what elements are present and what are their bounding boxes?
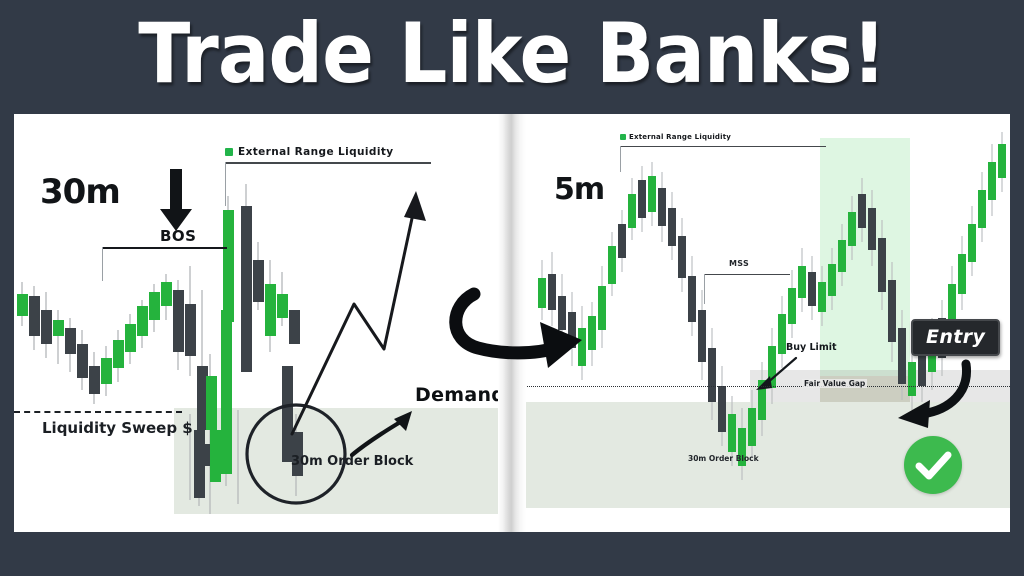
diagonal-down-left-arrow-icon xyxy=(748,354,808,398)
external-range-liquidity-label-5m: External Range Liquidity xyxy=(620,133,731,141)
buy-limit-label-5m: Buy Limit xyxy=(786,342,837,353)
mss-line-5m xyxy=(704,274,790,275)
curved-right-arrow-icon xyxy=(444,282,604,392)
erl-anchor-tick-30m xyxy=(225,162,226,206)
mss-label-5m: MSS xyxy=(729,259,749,268)
status-badge-success xyxy=(904,436,962,494)
liquidity-checkbox-icon xyxy=(225,148,233,156)
screenshot-root: Trade Like Banks! xyxy=(0,0,1024,576)
panel-30m[interactable]: 30m External Range Liquidity BOS Liquidi… xyxy=(14,114,500,532)
check-circle-icon xyxy=(904,436,962,494)
page-title: Trade Like Banks! xyxy=(41,6,983,102)
curved-up-arrow-icon xyxy=(348,399,428,459)
timeframe-label-30m: 30m xyxy=(40,172,120,212)
timeframe-label-5m: 5m xyxy=(554,172,604,207)
bos-line-30m xyxy=(102,247,227,249)
external-range-liquidity-line-5m xyxy=(620,146,826,147)
external-range-liquidity-label-30m: External Range Liquidity xyxy=(225,146,393,158)
entry-badge[interactable]: Entry xyxy=(911,319,1000,356)
mss-anchor-tick-5m xyxy=(704,274,705,304)
order-block-label-5m: 30m Order Block xyxy=(688,454,759,463)
bos-anchor-tick-30m xyxy=(102,247,103,281)
fair-value-gap-label-5m: Fair Value Gap xyxy=(802,379,867,388)
curved-down-left-arrow-icon xyxy=(892,360,982,432)
liquidity-sweep-label-30m: Liquidity Sweep $ xyxy=(42,419,193,437)
down-arrow-icon xyxy=(158,169,198,233)
liquidity-sweep-line-30m xyxy=(14,411,182,413)
erl-anchor-tick-5m xyxy=(620,146,621,172)
liquidity-checkbox-icon-5m xyxy=(620,134,626,140)
bos-label-30m: BOS xyxy=(160,227,197,245)
